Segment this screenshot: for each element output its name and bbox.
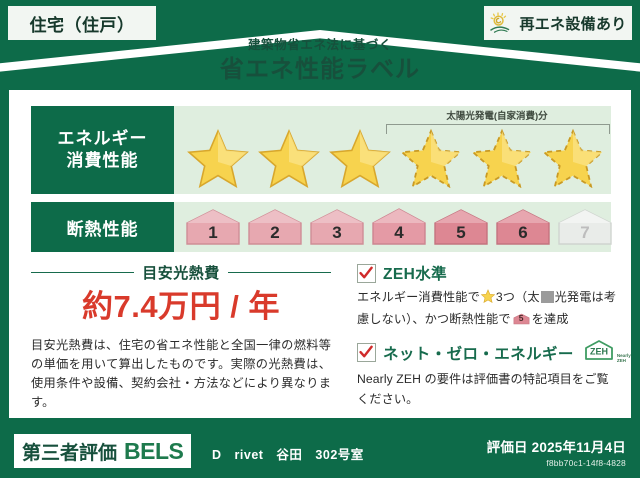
star-2 <box>253 126 324 190</box>
footer-meta: 評価日 2025年11月4日 f8bb70c1-14f8-4828 <box>487 436 626 468</box>
star-6-solar <box>537 126 608 190</box>
insulation-performance-row: 断熱性能 1 2 <box>31 202 611 252</box>
energy-performance-row: エネルギー 消費性能 太陽光発電(自家消費)分 <box>31 106 611 194</box>
utility-cost-section: 目安光熱費 約7.4万円 / 年 目安光熱費は、住宅の省エネ性能と全国一律の燃料… <box>31 262 331 413</box>
star-5-solar <box>466 126 537 190</box>
zeh-section: ZEH水準 エネルギー消費性能で3つ（太光発電は考慮しない）、かつ断熱性能で5を… <box>357 262 619 419</box>
net-zero-energy-block: ネット・ゼロ・エネルギー ZEH Nearly ZEH <box>357 339 619 409</box>
renewable-equipment-label: 再エネ設備あり <box>519 13 626 34</box>
redaction-mark <box>541 291 554 303</box>
zeh-standard-title: ZEH水準 <box>383 262 447 284</box>
insulation-level-1: 1 <box>184 207 242 247</box>
heading-rule-left <box>31 272 134 274</box>
zeh-logo-mark: ZEH <box>583 339 615 366</box>
zeh-standard-body: エネルギー消費性能で3つ（太光発電は考慮しない）、かつ断熱性能で5を達成 <box>357 288 619 329</box>
content-card: エネルギー 消費性能 太陽光発電(自家消費)分 <box>9 90 631 418</box>
sun-energy-icon <box>489 11 515 35</box>
evaluation-date: 評価日 2025年11月4日 <box>487 436 626 456</box>
insulation-levels-area: 1 2 3 <box>174 202 611 252</box>
property-name: D rivet 谷田 302号室 <box>212 444 364 463</box>
heading-rule-right <box>228 272 331 274</box>
net-zero-energy-body: Nearly ZEH の要件は評価書の特記項目をご覧ください。 <box>357 370 619 409</box>
insulation-performance-label: 断熱性能 <box>31 202 174 252</box>
star-3 <box>324 126 395 190</box>
zeh-standard-heading: ZEH水準 <box>357 262 619 284</box>
inline-insulation-badge: 5 <box>513 312 530 326</box>
zeh-logo: ZEH Nearly ZEH <box>583 339 631 366</box>
star-1 <box>182 126 253 190</box>
housing-type-label: 住宅（住戸） <box>30 11 135 36</box>
insulation-level-4: 4 <box>370 207 428 247</box>
insulation-level-7: 7 <box>556 207 614 247</box>
zeh-standard-checkbox <box>357 264 376 283</box>
utility-cost-heading-text: 目安光熱費 <box>142 262 220 283</box>
energy-performance-label: エネルギー 消費性能 <box>31 106 174 194</box>
insulation-level-6: 6 <box>494 207 552 247</box>
label-title: 省エネ性能ラベル <box>0 55 640 85</box>
zeh-logo-sub: Nearly ZEH <box>617 354 631 366</box>
insulation-level-scale: 1 2 3 <box>184 207 614 247</box>
net-zero-energy-heading: ネット・ゼロ・エネルギー ZEH Nearly ZEH <box>357 339 619 366</box>
bels-logo-jp: 第三者評価 <box>22 438 117 465</box>
svg-text:ZEH: ZEH <box>590 347 608 357</box>
insulation-level-5: 5 <box>432 207 490 247</box>
insulation-level-3: 3 <box>308 207 366 247</box>
utility-cost-heading: 目安光熱費 <box>31 262 331 283</box>
solar-bracket-caption: 太陽光発電(自家消費)分 <box>386 108 608 122</box>
housing-type-badge: 住宅（住戸） <box>8 6 156 40</box>
insulation-level-2: 2 <box>246 207 304 247</box>
net-zero-energy-checkbox <box>357 343 376 362</box>
star-rating <box>182 126 608 190</box>
star-4-solar <box>395 126 466 190</box>
energy-stars-area: 太陽光発電(自家消費)分 <box>174 106 611 194</box>
zeh-standard-block: ZEH水準 エネルギー消費性能で3つ（太光発電は考慮しない）、かつ断熱性能で5を… <box>357 262 619 329</box>
net-zero-energy-title: ネット・ゼロ・エネルギー <box>383 342 574 364</box>
inline-star-icon <box>481 289 495 310</box>
label-title-group: 建築物省エネ法に基づく 省エネ性能ラベル <box>0 38 640 85</box>
utility-cost-value: 約7.4万円 / 年 <box>31 291 331 324</box>
bels-logo-en: BELS <box>124 438 183 465</box>
label-subtitle: 建築物省エネ法に基づく <box>0 38 640 53</box>
evaluation-code: f8bb70c1-14f8-4828 <box>487 458 626 468</box>
label-footer: 第三者評価 BELS D rivet 谷田 302号室 評価日 2025年11月… <box>0 426 640 478</box>
renewable-equipment-badge: 再エネ設備あり <box>484 6 632 40</box>
utility-cost-note: 目安光熱費は、住宅の省エネ性能と全国一律の燃料等の単価を用いて算出したものです。… <box>31 336 331 413</box>
bels-energy-label: 住宅（住戸） 再エネ設備あり 建築物省エネ法に基づく 省エネ性能ラベル <box>0 0 640 478</box>
bels-logo: 第三者評価 BELS <box>14 434 191 468</box>
